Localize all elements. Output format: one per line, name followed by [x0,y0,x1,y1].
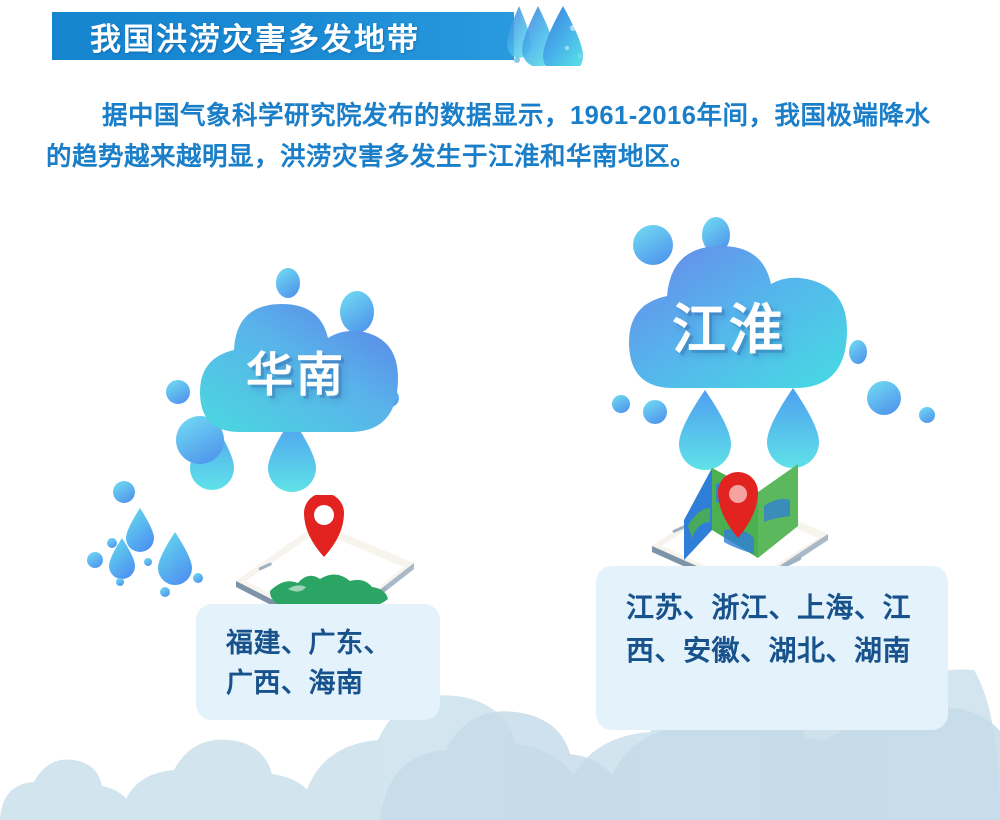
region-card-jianghuai[interactable]: 江苏、浙江、上海、江西、安徽、湖北、湖南 [596,566,948,730]
cloud-label-south-china: 华南 [246,336,346,405]
infographic-canvas: 我国洪涝灾害多发地带 据中国气象科学研究院发布的数据显示，1961-2016年间… [0,0,1000,820]
title-banner: 我国洪涝灾害多发地带 [52,12,514,60]
region-provinces-jianghuai: 江苏、浙江、上海、江西、安徽、湖北、湖南 [626,586,922,673]
water-droplet-icon [505,4,595,66]
cloud-label-jianghuai: 江淮 [672,285,786,364]
region-card-south-china[interactable]: 福建、广东、广西、海南 [196,604,440,720]
lede-paragraph: 据中国气象科学研究院发布的数据显示，1961-2016年间，我国极端降水的趋势越… [46,96,946,179]
page-title: 我国洪涝灾害多发地带 [90,14,420,59]
region-provinces-south-china: 福建、广东、广西、海南 [226,624,414,704]
